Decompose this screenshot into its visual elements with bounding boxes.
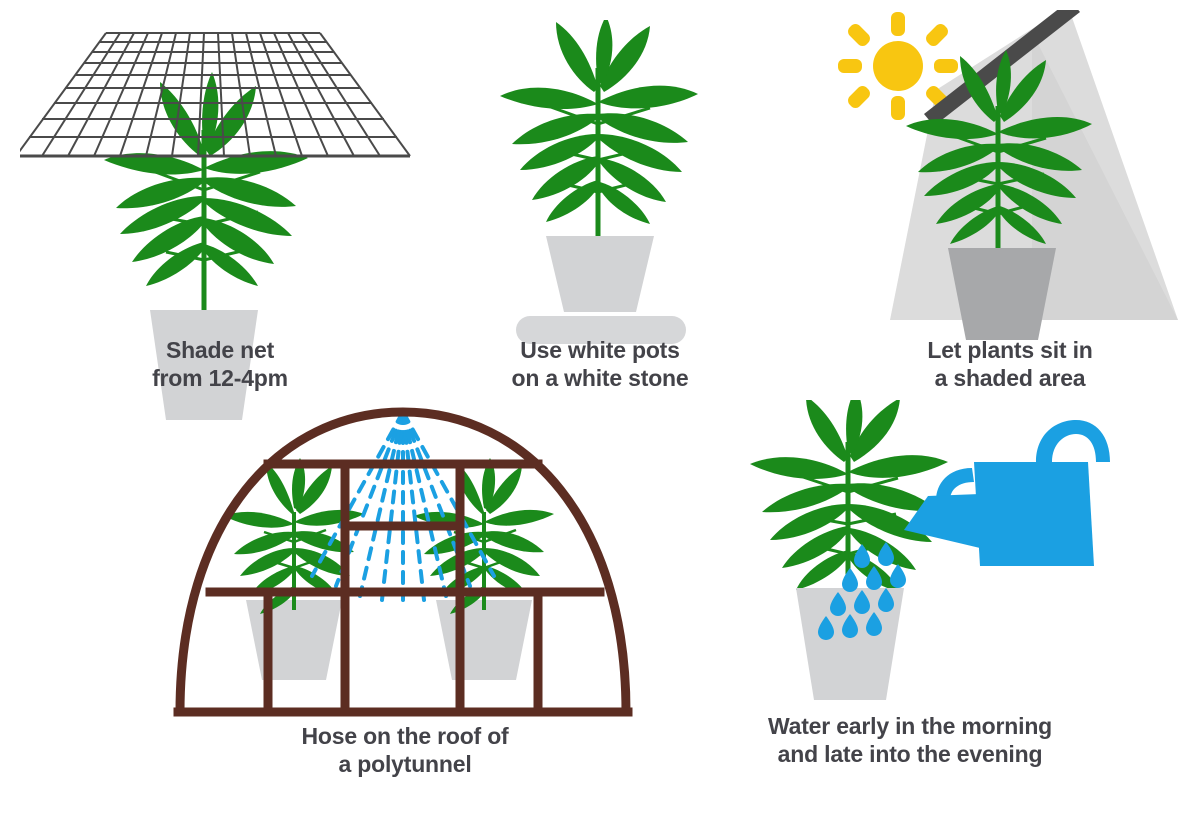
caption-white-pot: Use white pots on a white stone: [430, 336, 770, 392]
plant-pot-left: [246, 600, 342, 680]
caption-line: Water early in the morning: [690, 712, 1130, 740]
caption-line: a shaded area: [820, 364, 1200, 392]
caption-line: Let plants sit in: [820, 336, 1200, 364]
plant-graphic: [500, 20, 698, 236]
caption-line: from 12-4pm: [20, 364, 420, 392]
watering-can-icon: [904, 420, 1110, 566]
caption-polytunnel: Hose on the roof of a polytunnel: [170, 722, 640, 778]
caption-line: Use white pots: [430, 336, 770, 364]
caption-line: Shade net: [20, 336, 420, 364]
plant-pot: [546, 236, 654, 312]
plant-graphic: [750, 400, 948, 592]
caption-line: on a white stone: [430, 364, 770, 392]
caption-line: a polytunnel: [170, 750, 640, 778]
plant-pot-right: [436, 600, 532, 680]
infographic-root: Shade net from 12-4pm: [0, 0, 1200, 820]
caption-line: Hose on the roof of: [170, 722, 640, 750]
caption-shaded-area: Let plants sit in a shaded area: [820, 336, 1200, 392]
plant-graphic: [104, 72, 308, 310]
caption-shade-net: Shade net from 12-4pm: [20, 336, 420, 392]
caption-line: and late into the evening: [690, 740, 1130, 768]
plant-pot: [948, 248, 1056, 340]
caption-watering: Water early in the morning and late into…: [690, 712, 1130, 768]
